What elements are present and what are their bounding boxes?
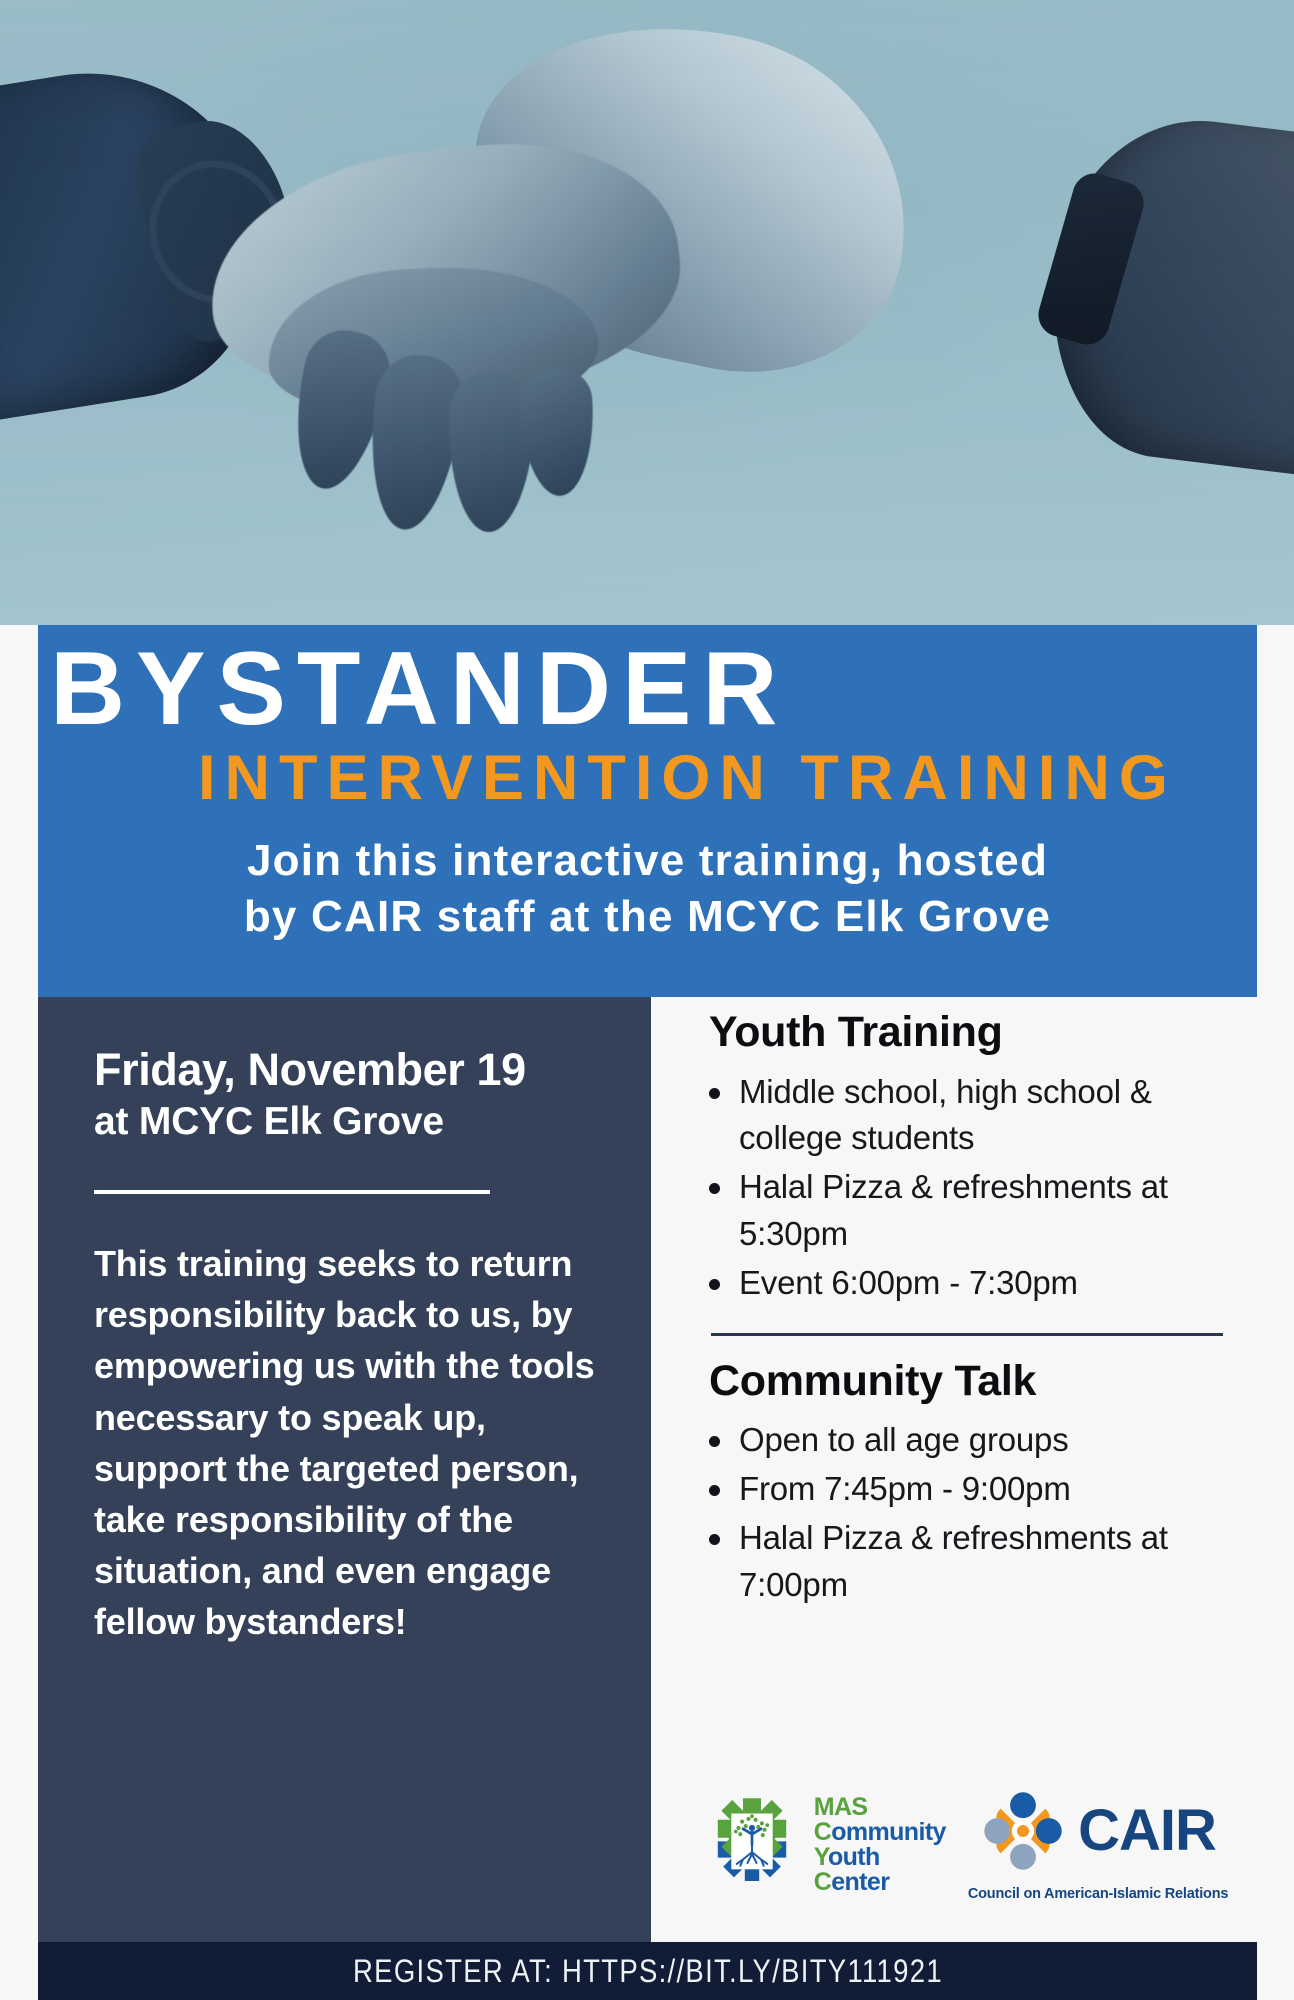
mas-wordmark: MAS Community Youth Center <box>814 1795 946 1895</box>
cair-logo-row: CAIR <box>980 1788 1216 1874</box>
tagline-line-1: Join this interactive training, hosted <box>38 833 1257 889</box>
mas-line3-initial: Y <box>814 1843 828 1871</box>
list-item: Halal Pizza & refreshments at 5:30pm <box>739 1164 1235 1258</box>
register-bar: REGISTER AT: HTTPS://BIT.LY/BITY111921 <box>38 1942 1257 2000</box>
mas-line3-rest: outh <box>828 1843 880 1871</box>
mas-line4-rest: enter <box>831 1868 889 1896</box>
list-item: From 7:45pm - 9:00pm <box>739 1466 1235 1513</box>
tagline: Join this interactive training, hosted b… <box>38 833 1257 945</box>
mas-community-youth-center-logo: MAS Community Youth Center <box>698 1791 946 1899</box>
section-heading-community-talk: Community Talk <box>709 1356 1235 1408</box>
mas-line2-initial: C <box>814 1818 831 1846</box>
page-subtitle: INTERVENTION TRAINING <box>198 747 1177 810</box>
register-url-text[interactable]: REGISTER AT: HTTPS://BIT.LY/BITY111921 <box>353 1953 943 1990</box>
event-date: Friday, November 19 <box>94 1045 595 1095</box>
title-banner: BYSTANDER INTERVENTION TRAINING Join thi… <box>38 625 1257 997</box>
mas-line1: MAS <box>814 1793 868 1821</box>
list-item: Middle school, high school & college stu… <box>739 1069 1235 1163</box>
mas-line4-initial: C <box>814 1868 831 1896</box>
handshake-photo <box>0 0 1294 625</box>
list-item: Event 6:00pm - 7:30pm <box>739 1260 1235 1307</box>
tagline-line-2: by CAIR staff at the MCYC Elk Grove <box>38 889 1257 945</box>
cair-pinwheel-icon <box>980 1788 1066 1874</box>
page-title: BYSTANDER <box>50 637 1230 741</box>
mas-line2-rest: ommunity <box>831 1818 946 1846</box>
section-heading-youth-training: Youth Training <box>709 1007 1235 1059</box>
details-panel: Friday, November 19 at MCYC Elk Grove Th… <box>38 997 651 1942</box>
youth-training-list: Middle school, high school & college stu… <box>695 1069 1235 1307</box>
community-talk-list: Open to all age groups From 7:45pm - 9:0… <box>695 1417 1235 1608</box>
logo-row: MAS Community Youth Center <box>651 1748 1257 1942</box>
list-item: Open to all age groups <box>739 1417 1235 1464</box>
mas-tree-star-icon <box>698 1791 806 1899</box>
cair-tagline: Council on American-Islamic Relations <box>968 1886 1228 1902</box>
cair-wordmark: CAIR <box>1078 1802 1216 1860</box>
cair-logo: CAIR Council on American-Islamic Relatio… <box>968 1788 1228 1902</box>
list-item: Halal Pizza & refreshments at 7:00pm <box>739 1515 1235 1609</box>
training-description: This training seeks to return responsibi… <box>94 1238 595 1647</box>
section-divider <box>711 1333 1223 1336</box>
event-location: at MCYC Elk Grove <box>94 1099 595 1146</box>
event-flyer: BYSTANDER INTERVENTION TRAINING Join thi… <box>0 0 1294 2000</box>
panel-divider <box>94 1190 490 1194</box>
photo-duotone-overlay <box>0 0 1294 625</box>
